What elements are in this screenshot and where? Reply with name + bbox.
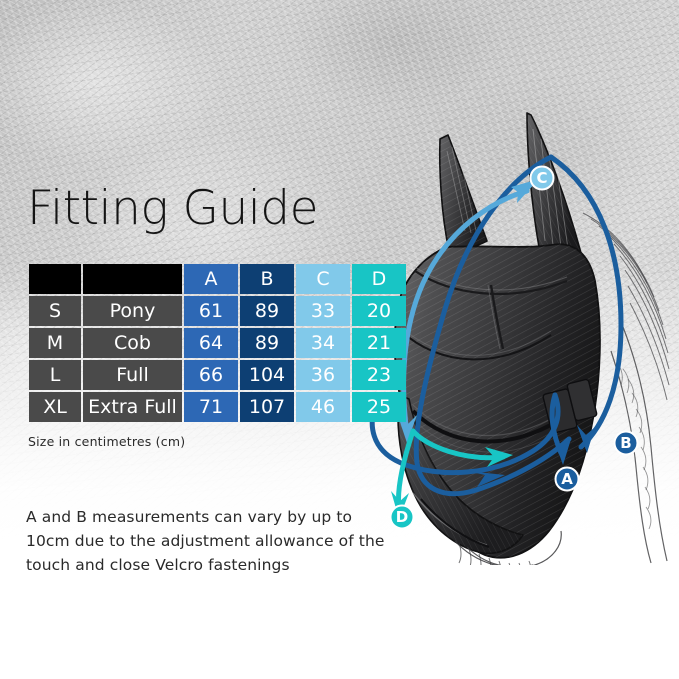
row-size-name: Cob [83,328,182,358]
row-value-b: 89 [240,296,294,326]
row-size-name: Full [83,360,182,390]
size-unit-note: Size in centimetres (cm) [28,434,185,449]
table-row: L Full 66 104 36 23 [29,360,406,390]
table-row: S Pony 61 89 33 20 [29,296,406,326]
header-column-c: C [296,264,350,294]
measurement-disclaimer: A and B measurements can vary by up to 1… [26,505,386,577]
row-value-d: 21 [352,328,406,358]
row-value-d: 20 [352,296,406,326]
row-value-b: 107 [240,392,294,422]
row-value-c: 33 [296,296,350,326]
row-value-d: 23 [352,360,406,390]
row-value-b: 104 [240,360,294,390]
row-size-code: S [29,296,81,326]
table-row: XL Extra Full 71 107 46 25 [29,392,406,422]
header-blank-size [29,264,81,294]
row-value-a: 61 [184,296,238,326]
row-value-b: 89 [240,328,294,358]
row-size-code: XL [29,392,81,422]
row-value-a: 66 [184,360,238,390]
row-value-c: 36 [296,360,350,390]
header-column-b: B [240,264,294,294]
row-size-code: L [29,360,81,390]
row-value-d: 25 [352,392,406,422]
row-value-a: 64 [184,328,238,358]
header-blank-name [83,264,182,294]
size-chart-table: A B C D S Pony 61 89 33 20 M Cob 64 89 3… [27,262,408,424]
fitting-guide-page: C B A D Fitting Guide A B [0,0,679,679]
row-value-a: 71 [184,392,238,422]
row-value-c: 46 [296,392,350,422]
row-size-name: Pony [83,296,182,326]
header-column-a: A [184,264,238,294]
page-title: Fitting Guide [27,185,318,232]
size-chart-body: S Pony 61 89 33 20 M Cob 64 89 34 21 L F… [29,296,406,422]
table-header-row: A B C D [29,264,406,294]
row-size-code: M [29,328,81,358]
table-row: M Cob 64 89 34 21 [29,328,406,358]
size-chart-header: A B C D [29,264,406,294]
header-column-d: D [352,264,406,294]
row-value-c: 34 [296,328,350,358]
row-size-name: Extra Full [83,392,182,422]
